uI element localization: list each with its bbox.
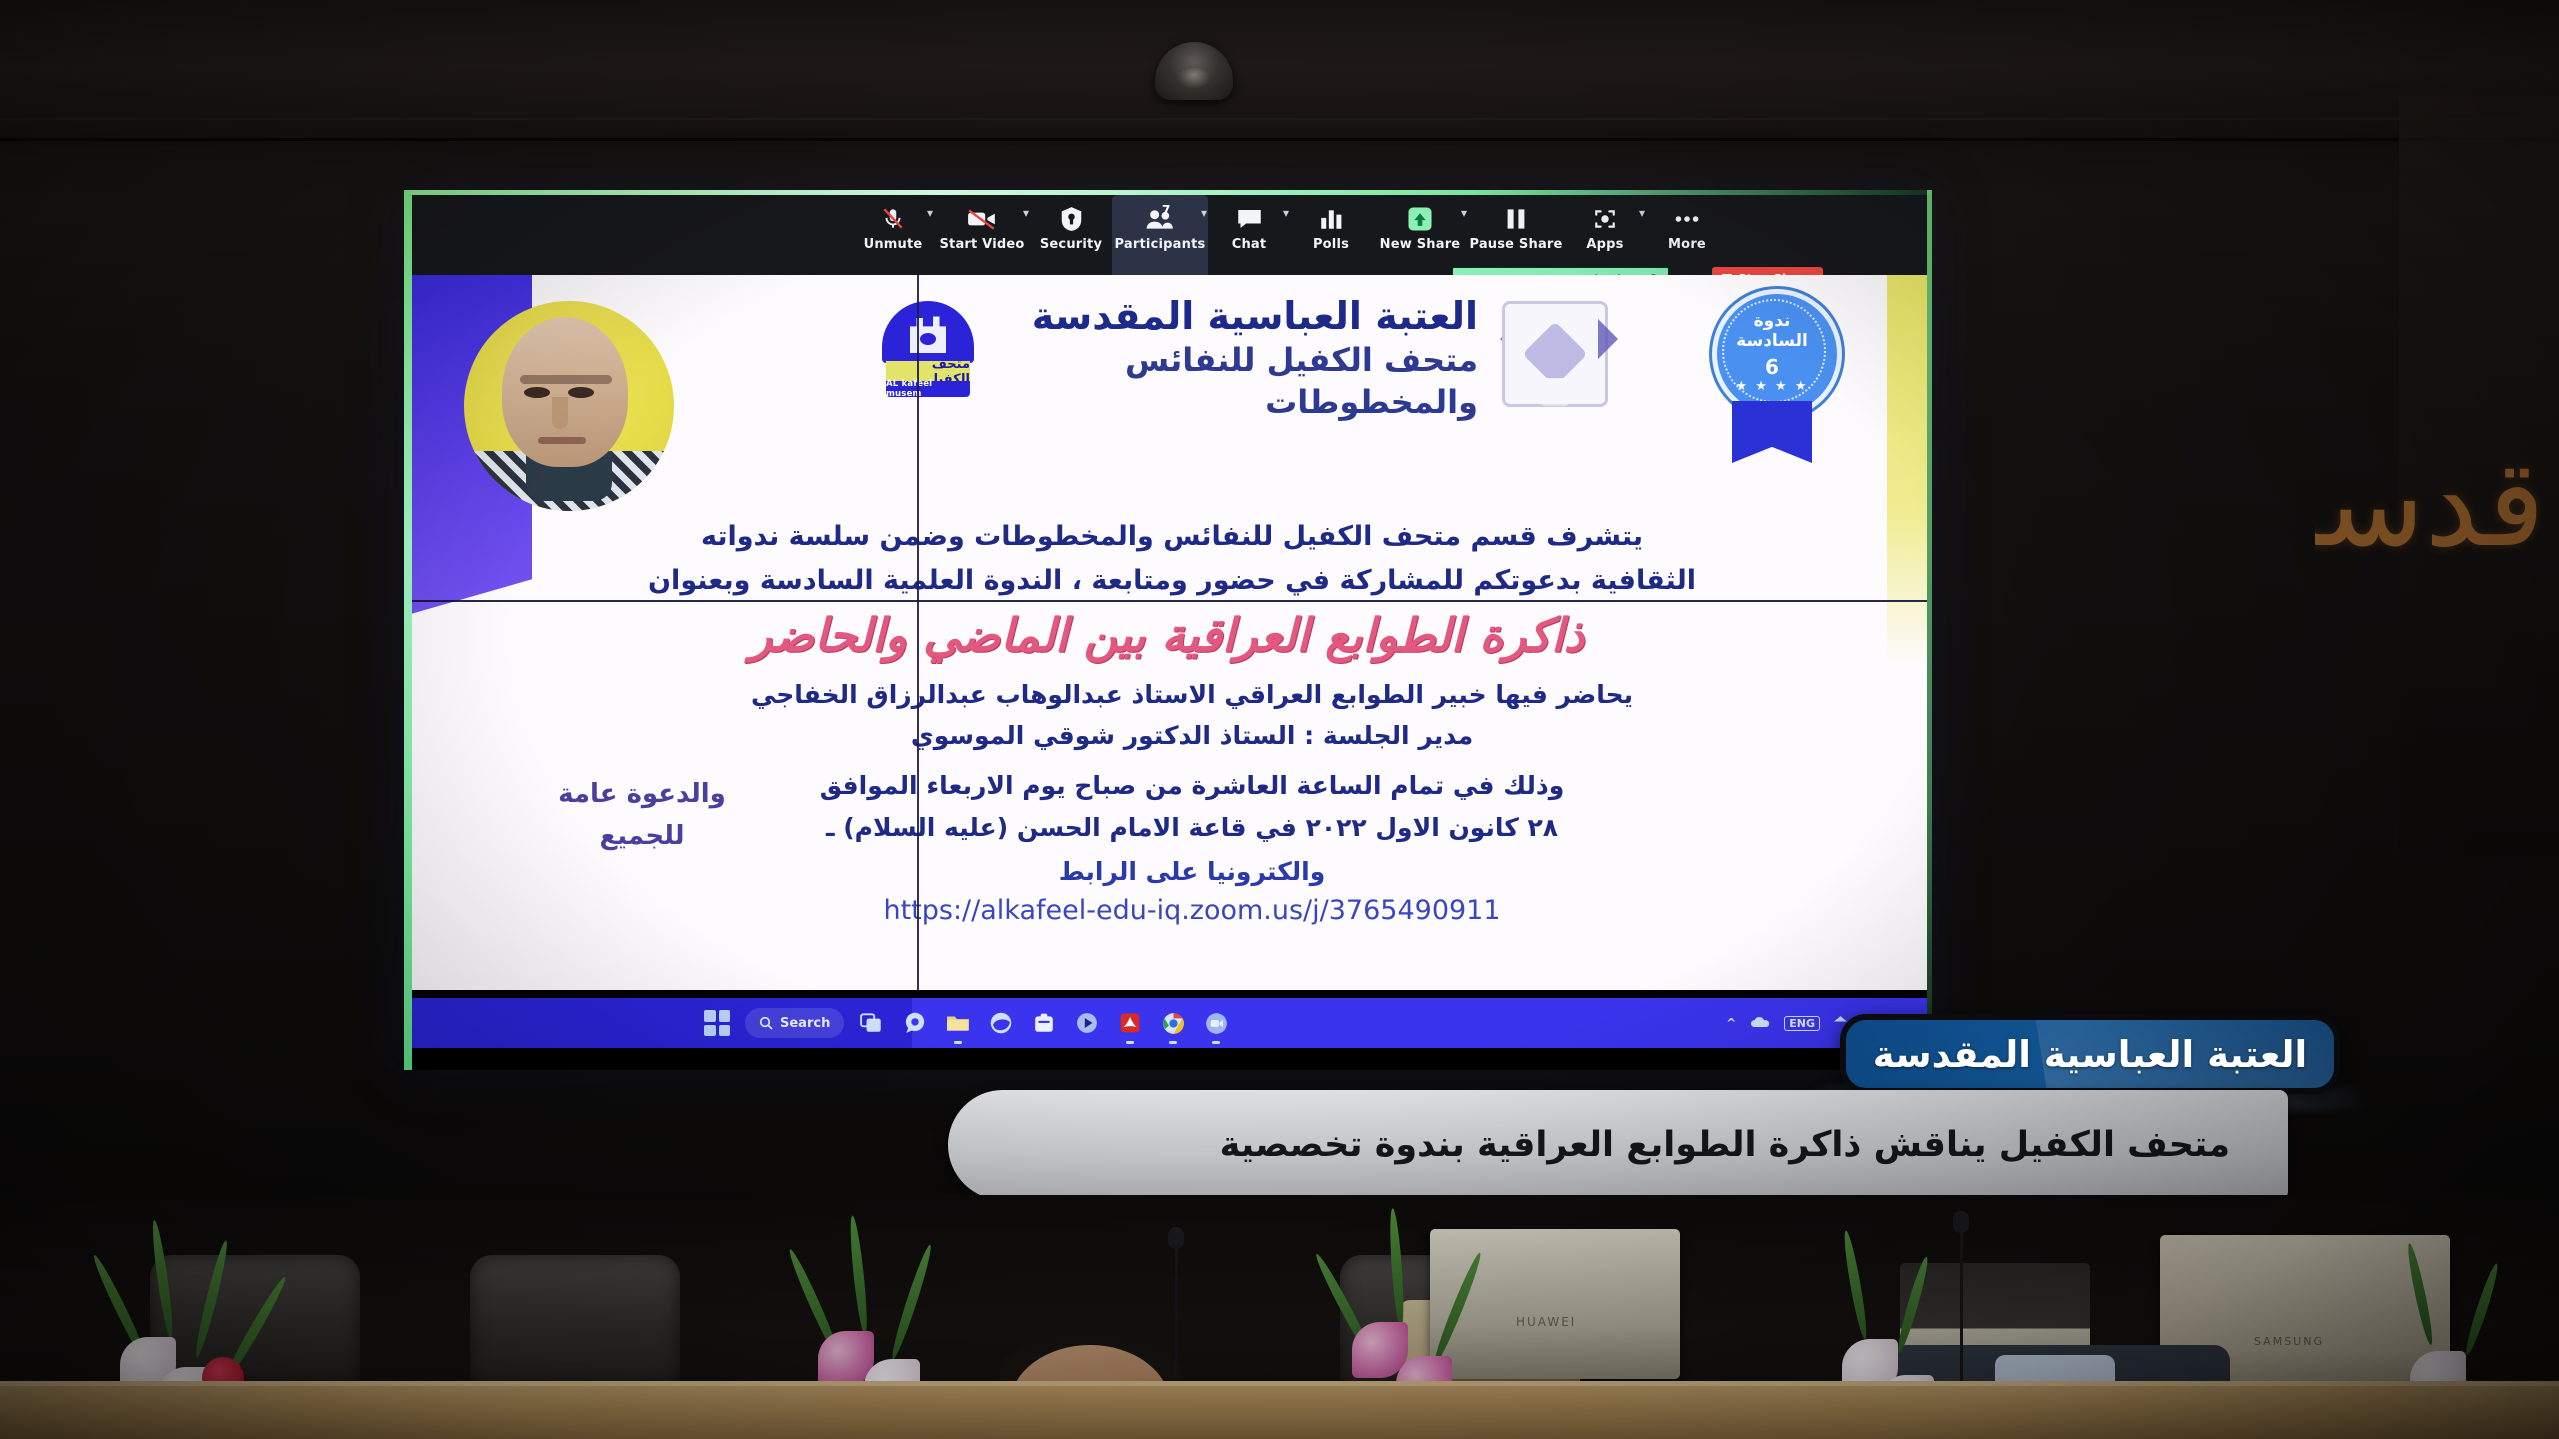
logo-english-label: AL kafeel musem bbox=[886, 379, 970, 399]
media-player-icon[interactable] bbox=[1072, 1008, 1102, 1038]
zoom-button-label: Polls bbox=[1313, 237, 1349, 252]
speaker-portrait-avatar bbox=[464, 301, 674, 511]
zoom-button-polls[interactable]: Polls bbox=[1290, 195, 1372, 278]
header-line-2: متحف الكفيل للنفائس والمخطوطات bbox=[988, 339, 1478, 423]
zoom-button-pause-share[interactable]: Pause Share bbox=[1468, 195, 1564, 278]
moderator-line: مدير الجلسة : الستاذ الدكتور شوقي الموسو… bbox=[492, 715, 1892, 757]
apps-icon bbox=[1592, 202, 1618, 236]
zoom-button-apps[interactable]: Apps ▾ bbox=[1564, 195, 1646, 278]
header-line-1: العتبة العباسية المقدسة bbox=[988, 293, 1478, 339]
badge-ribbon bbox=[1732, 401, 1812, 463]
pause-icon bbox=[1505, 202, 1527, 236]
zoom-button-label: Start Video bbox=[939, 237, 1024, 252]
zoom-button-participants[interactable]: 7 Participants ▾ bbox=[1112, 195, 1208, 278]
ornament-right-wing-icon bbox=[1598, 319, 1638, 359]
microsoft-store-icon[interactable] bbox=[1029, 1008, 1059, 1038]
shared-slide: متحف الكفيل AL kafeel musem العتبة العبا… bbox=[412, 275, 1927, 990]
screen-frame-left bbox=[404, 190, 412, 1070]
start-icon[interactable] bbox=[702, 1008, 732, 1038]
chevron-down-icon[interactable]: ▾ bbox=[1461, 207, 1467, 219]
polls-bars-icon bbox=[1318, 202, 1344, 236]
chat-teams-icon[interactable] bbox=[900, 1008, 930, 1038]
edge-browser-icon[interactable] bbox=[986, 1008, 1016, 1038]
logo-dome-shape bbox=[882, 301, 974, 363]
islamic-ornament-icon bbox=[1502, 301, 1608, 407]
slide-link-block: والكترونيا على الرابط https://alkafeel-e… bbox=[492, 853, 1892, 931]
shield-icon bbox=[1059, 202, 1084, 236]
taskbar-running-dot bbox=[1212, 1041, 1220, 1044]
badge-stars: ★ ★ ★ ★ bbox=[1730, 379, 1814, 394]
task-view-icon[interactable] bbox=[857, 1008, 887, 1038]
projector-alignment-line-horizontal bbox=[412, 600, 1927, 602]
microphone-muted-icon bbox=[880, 202, 906, 236]
more-ellipsis-icon bbox=[1673, 202, 1701, 236]
chat-bubble-icon bbox=[1236, 202, 1263, 236]
zoom-button-label: Security bbox=[1040, 237, 1102, 252]
body-line-1: يتشرف قسم متحف الكفيل للنفائس والمخطوطات… bbox=[452, 515, 1892, 559]
zoom-meeting-link[interactable]: https://alkafeel-edu-iq.zoom.us/j/376549… bbox=[492, 891, 1892, 931]
zoom-button-label: More bbox=[1668, 237, 1706, 252]
portrait-brow bbox=[520, 375, 612, 384]
open-invite-line-1: والدعوة عامة bbox=[512, 773, 772, 815]
onedrive-icon[interactable] bbox=[1749, 1015, 1771, 1032]
slide-main-title: ذاكرة الطوابع العراقية بين الماضي والحاض… bbox=[552, 605, 1782, 665]
portrait-eye-right bbox=[568, 387, 594, 398]
seminar-number-badge: ندوة السادسة 6 ★ ★ ★ ★ bbox=[1712, 289, 1832, 464]
screenshot-stage: قدسة Unmute ▾ Start Video bbox=[0, 0, 2559, 1439]
logo-glyph-icon bbox=[910, 315, 946, 353]
screen-frame-right bbox=[1927, 190, 1932, 1070]
taskbar-running-dot bbox=[1126, 1041, 1134, 1044]
headline-text: متحف الكفيل يناقش ذاكرة الطوابع العراقية… bbox=[1220, 1125, 2230, 1165]
zoom-button-more[interactable]: More bbox=[1646, 195, 1728, 278]
zoom-button-new-share[interactable]: New Share ▾ bbox=[1372, 195, 1468, 278]
badge-text: ندوة السادسة bbox=[1726, 311, 1818, 351]
brand-plate-text: العتبة العباسية المقدسة bbox=[1873, 1033, 2307, 1076]
zoom-button-label: Apps bbox=[1586, 237, 1623, 252]
zoom-button-label: Pause Share bbox=[1469, 237, 1562, 252]
chevron-down-icon[interactable]: ▾ bbox=[927, 207, 933, 219]
windows-taskbar: Search bbox=[412, 998, 1927, 1048]
body-line-2: الثقافية بدعوتكم للمشاركة في حضور ومتابع… bbox=[452, 559, 1892, 603]
zoom-button-label: Unmute bbox=[864, 237, 923, 252]
zoom-button-start-video[interactable]: Start Video ▾ bbox=[934, 195, 1030, 278]
chevron-down-icon[interactable]: ▾ bbox=[1201, 207, 1207, 219]
share-screen-icon bbox=[1405, 202, 1435, 236]
video-camera-off-icon bbox=[967, 202, 997, 236]
conference-desk bbox=[0, 1381, 2559, 1439]
search-input[interactable]: Search bbox=[745, 1008, 844, 1038]
slide-decoration-yellow bbox=[1887, 275, 1927, 665]
zoom-button-label: New Share bbox=[1380, 237, 1461, 252]
search-label: Search bbox=[780, 1016, 830, 1031]
file-explorer-icon[interactable] bbox=[943, 1008, 973, 1038]
chevron-down-icon[interactable]: ▾ bbox=[1023, 207, 1029, 219]
desk-edge-highlight bbox=[0, 1381, 2559, 1386]
chevron-down-icon[interactable]: ▾ bbox=[1283, 207, 1289, 219]
portrait-eye-left bbox=[524, 387, 550, 398]
taskbar-running-dot bbox=[954, 1041, 962, 1044]
badge-number: 6 bbox=[1726, 355, 1818, 379]
wall-calligraphy-text: قدسة bbox=[2315, 430, 2545, 640]
language-indicator[interactable]: ENG bbox=[1784, 1016, 1820, 1031]
zoom-toolbar: Unmute ▾ Start Video ▾ Security bbox=[412, 195, 1927, 275]
taskbar-running-dot bbox=[1169, 1041, 1177, 1044]
tray-overflow-chevron-icon[interactable]: ^ bbox=[1726, 1016, 1736, 1030]
chrome-browser-icon[interactable] bbox=[1158, 1008, 1188, 1038]
ceiling-seam-upper bbox=[0, 118, 2559, 120]
zoom-toolbar-items: Unmute ▾ Start Video ▾ Security bbox=[852, 195, 1728, 275]
foreground-desk-scene bbox=[0, 1195, 2559, 1439]
participants-icon bbox=[1145, 202, 1175, 236]
ornament-inner-diamond bbox=[1522, 321, 1587, 386]
chevron-down-icon[interactable]: ▾ bbox=[1639, 207, 1645, 219]
ceiling-band bbox=[0, 0, 2559, 146]
zoom-button-security[interactable]: Security bbox=[1030, 195, 1112, 278]
broadcast-brand-plate: العتبة العباسية المقدسة bbox=[1840, 1014, 2340, 1094]
taskbar-icons: Search bbox=[702, 998, 1231, 1048]
slide-speaker-block: يحاضر فيها خبير الطوابع العراقي الاستاذ … bbox=[492, 675, 1892, 757]
microphone-head-1 bbox=[1168, 1227, 1184, 1249]
portrait-mouth bbox=[538, 437, 586, 444]
portrait-nose bbox=[552, 397, 568, 429]
microphone-stand-1 bbox=[1175, 1243, 1178, 1393]
zoom-button-label: Participants bbox=[1115, 237, 1206, 252]
chair-2 bbox=[470, 1255, 680, 1385]
open-invitation-note: والدعوة عامة للجميع bbox=[512, 773, 772, 857]
projection-screen: Unmute ▾ Start Video ▾ Security bbox=[404, 190, 1932, 1070]
zoom-app-icon[interactable] bbox=[1201, 1008, 1231, 1038]
search-icon bbox=[759, 1016, 773, 1030]
projector-alignment-line-vertical bbox=[917, 275, 919, 990]
lower-third-headline-bar: متحف الكفيل يناقش ذاكرة الطوابع العراقية… bbox=[948, 1090, 2288, 1200]
participants-count-badge: 7 bbox=[1162, 203, 1170, 217]
start-grid bbox=[704, 1010, 730, 1036]
zoom-button-label: Chat bbox=[1232, 237, 1267, 252]
open-invite-line-2: للجميع bbox=[512, 815, 772, 857]
al-kafeel-museum-logo: متحف الكفيل AL kafeel musem bbox=[882, 301, 974, 397]
adobe-acrobat-icon[interactable] bbox=[1115, 1008, 1145, 1038]
link-label: والكترونيا على الرابط bbox=[492, 853, 1892, 891]
zoom-button-chat[interactable]: Chat ▾ bbox=[1208, 195, 1290, 278]
portrait-head bbox=[502, 317, 628, 467]
slide-body-text: يتشرف قسم متحف الكفيل للنفائس والمخطوطات… bbox=[452, 515, 1892, 603]
zoom-button-unmute[interactable]: Unmute ▾ bbox=[852, 195, 934, 278]
slide-header-arabic: العتبة العباسية المقدسة متحف الكفيل للنف… bbox=[988, 293, 1478, 423]
speaker-line: يحاضر فيها خبير الطوابع العراقي الاستاذ … bbox=[492, 675, 1892, 715]
logo-english-band: AL kafeel musem bbox=[886, 381, 970, 397]
ceiling-seam bbox=[0, 138, 2559, 141]
